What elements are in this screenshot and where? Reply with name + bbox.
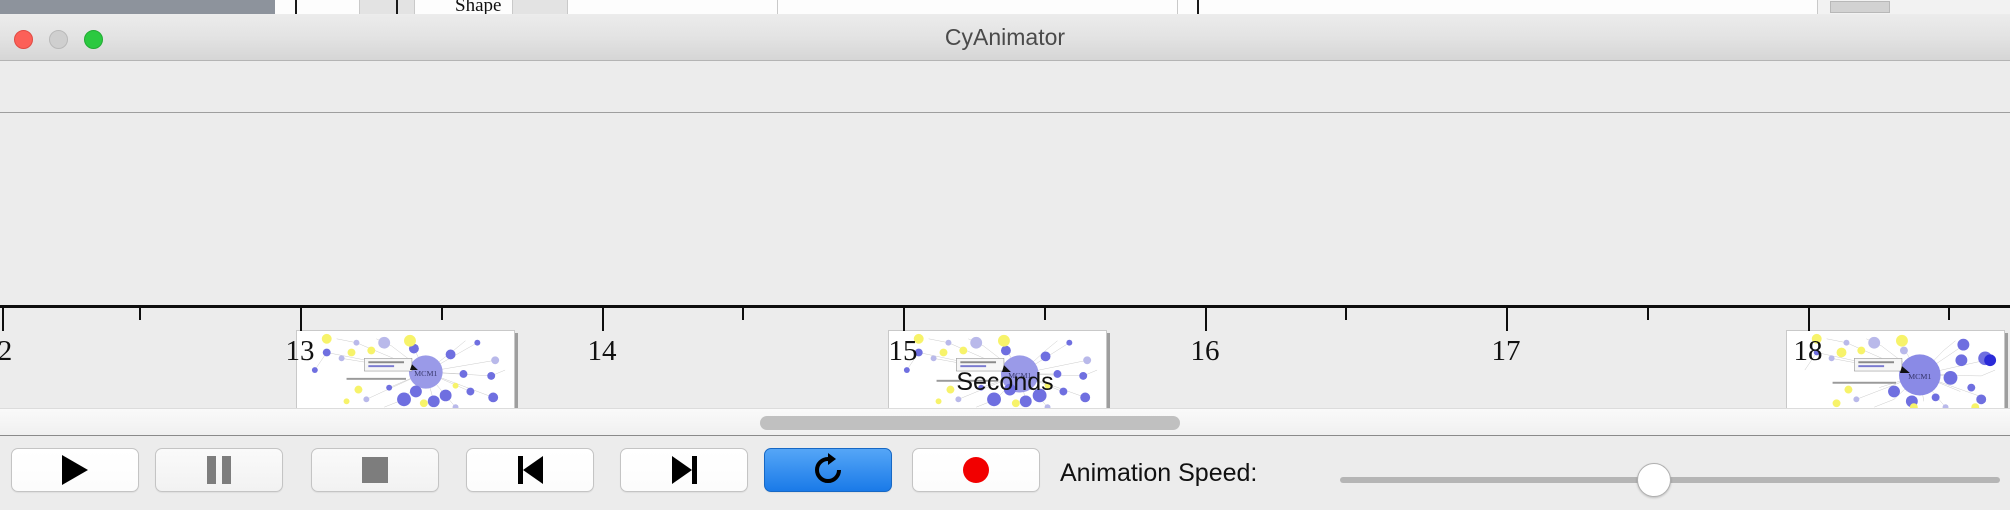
loop-icon [811, 453, 845, 487]
record-icon [963, 457, 989, 483]
axis-tick-minor [139, 308, 141, 320]
pause-icon [207, 456, 231, 484]
background-cell [1178, 0, 1818, 14]
background-scrollbar [1830, 1, 1890, 13]
window-title: CyAnimator [0, 14, 2010, 61]
axis-tick-major [903, 308, 905, 331]
window-titlebar: CyAnimator [0, 14, 2010, 61]
axis-tick-label: 14 [588, 335, 617, 368]
axis-tick-major [1506, 308, 1508, 331]
playback-controls: Animation Speed: [0, 437, 2010, 510]
axis-tick-label: 2 [0, 335, 12, 368]
axis-tick-major [300, 308, 302, 331]
axis-tick-major [1205, 308, 1207, 331]
axis-tick-minor [742, 308, 744, 320]
background-window-dark-panel [0, 0, 275, 14]
skip-to-start-icon [518, 456, 543, 484]
stop-icon [362, 457, 388, 483]
timeline-panel[interactable]: MCM1 [0, 113, 2010, 408]
toolbar: Clear All Frames [0, 61, 2010, 113]
animation-speed-label: Animation Speed: [1060, 459, 1257, 488]
timeline-horizontal-scrollbar[interactable] [0, 408, 2010, 436]
skip-to-start-button[interactable] [466, 448, 594, 492]
axis-tick-minor [1044, 308, 1046, 320]
axis-tick-label: 13 [286, 335, 315, 368]
background-cell [778, 0, 1178, 14]
background-cell [360, 0, 415, 14]
loop-button[interactable] [764, 448, 892, 492]
axis-tick-label: 15 [889, 335, 918, 368]
axis-tick-label: 17 [1492, 335, 1521, 368]
record-button[interactable] [912, 448, 1040, 492]
background-window-strip: Shape [0, 0, 2010, 14]
background-tick [1197, 0, 1199, 14]
axis-tick-label: 18 [1794, 335, 1823, 368]
axis-tick-major [2, 308, 4, 331]
axis-tick-minor [441, 308, 443, 320]
background-window-label: Shape [455, 0, 501, 14]
axis-tick-minor [1345, 308, 1347, 320]
scrollbar-thumb[interactable] [760, 416, 1180, 430]
background-tick [295, 0, 297, 14]
background-cell [568, 0, 778, 14]
stop-button[interactable] [311, 448, 439, 492]
axis-title: Seconds [0, 368, 2010, 397]
skip-to-end-icon [672, 456, 697, 484]
play-button[interactable] [11, 448, 139, 492]
background-cell [275, 0, 360, 14]
frame-track[interactable] [0, 113, 2010, 305]
background-cell [513, 0, 568, 14]
axis-tick-major [602, 308, 604, 331]
play-icon [62, 455, 88, 485]
axis-tick-minor [1948, 308, 1950, 320]
animation-speed-slider-thumb[interactable] [1637, 463, 1671, 497]
background-tick [396, 0, 398, 14]
axis-tick-major [1808, 308, 1810, 331]
axis-tick-label: 16 [1191, 335, 1220, 368]
skip-to-end-button[interactable] [620, 448, 748, 492]
axis-tick-minor [1647, 308, 1649, 320]
pause-button[interactable] [155, 448, 283, 492]
